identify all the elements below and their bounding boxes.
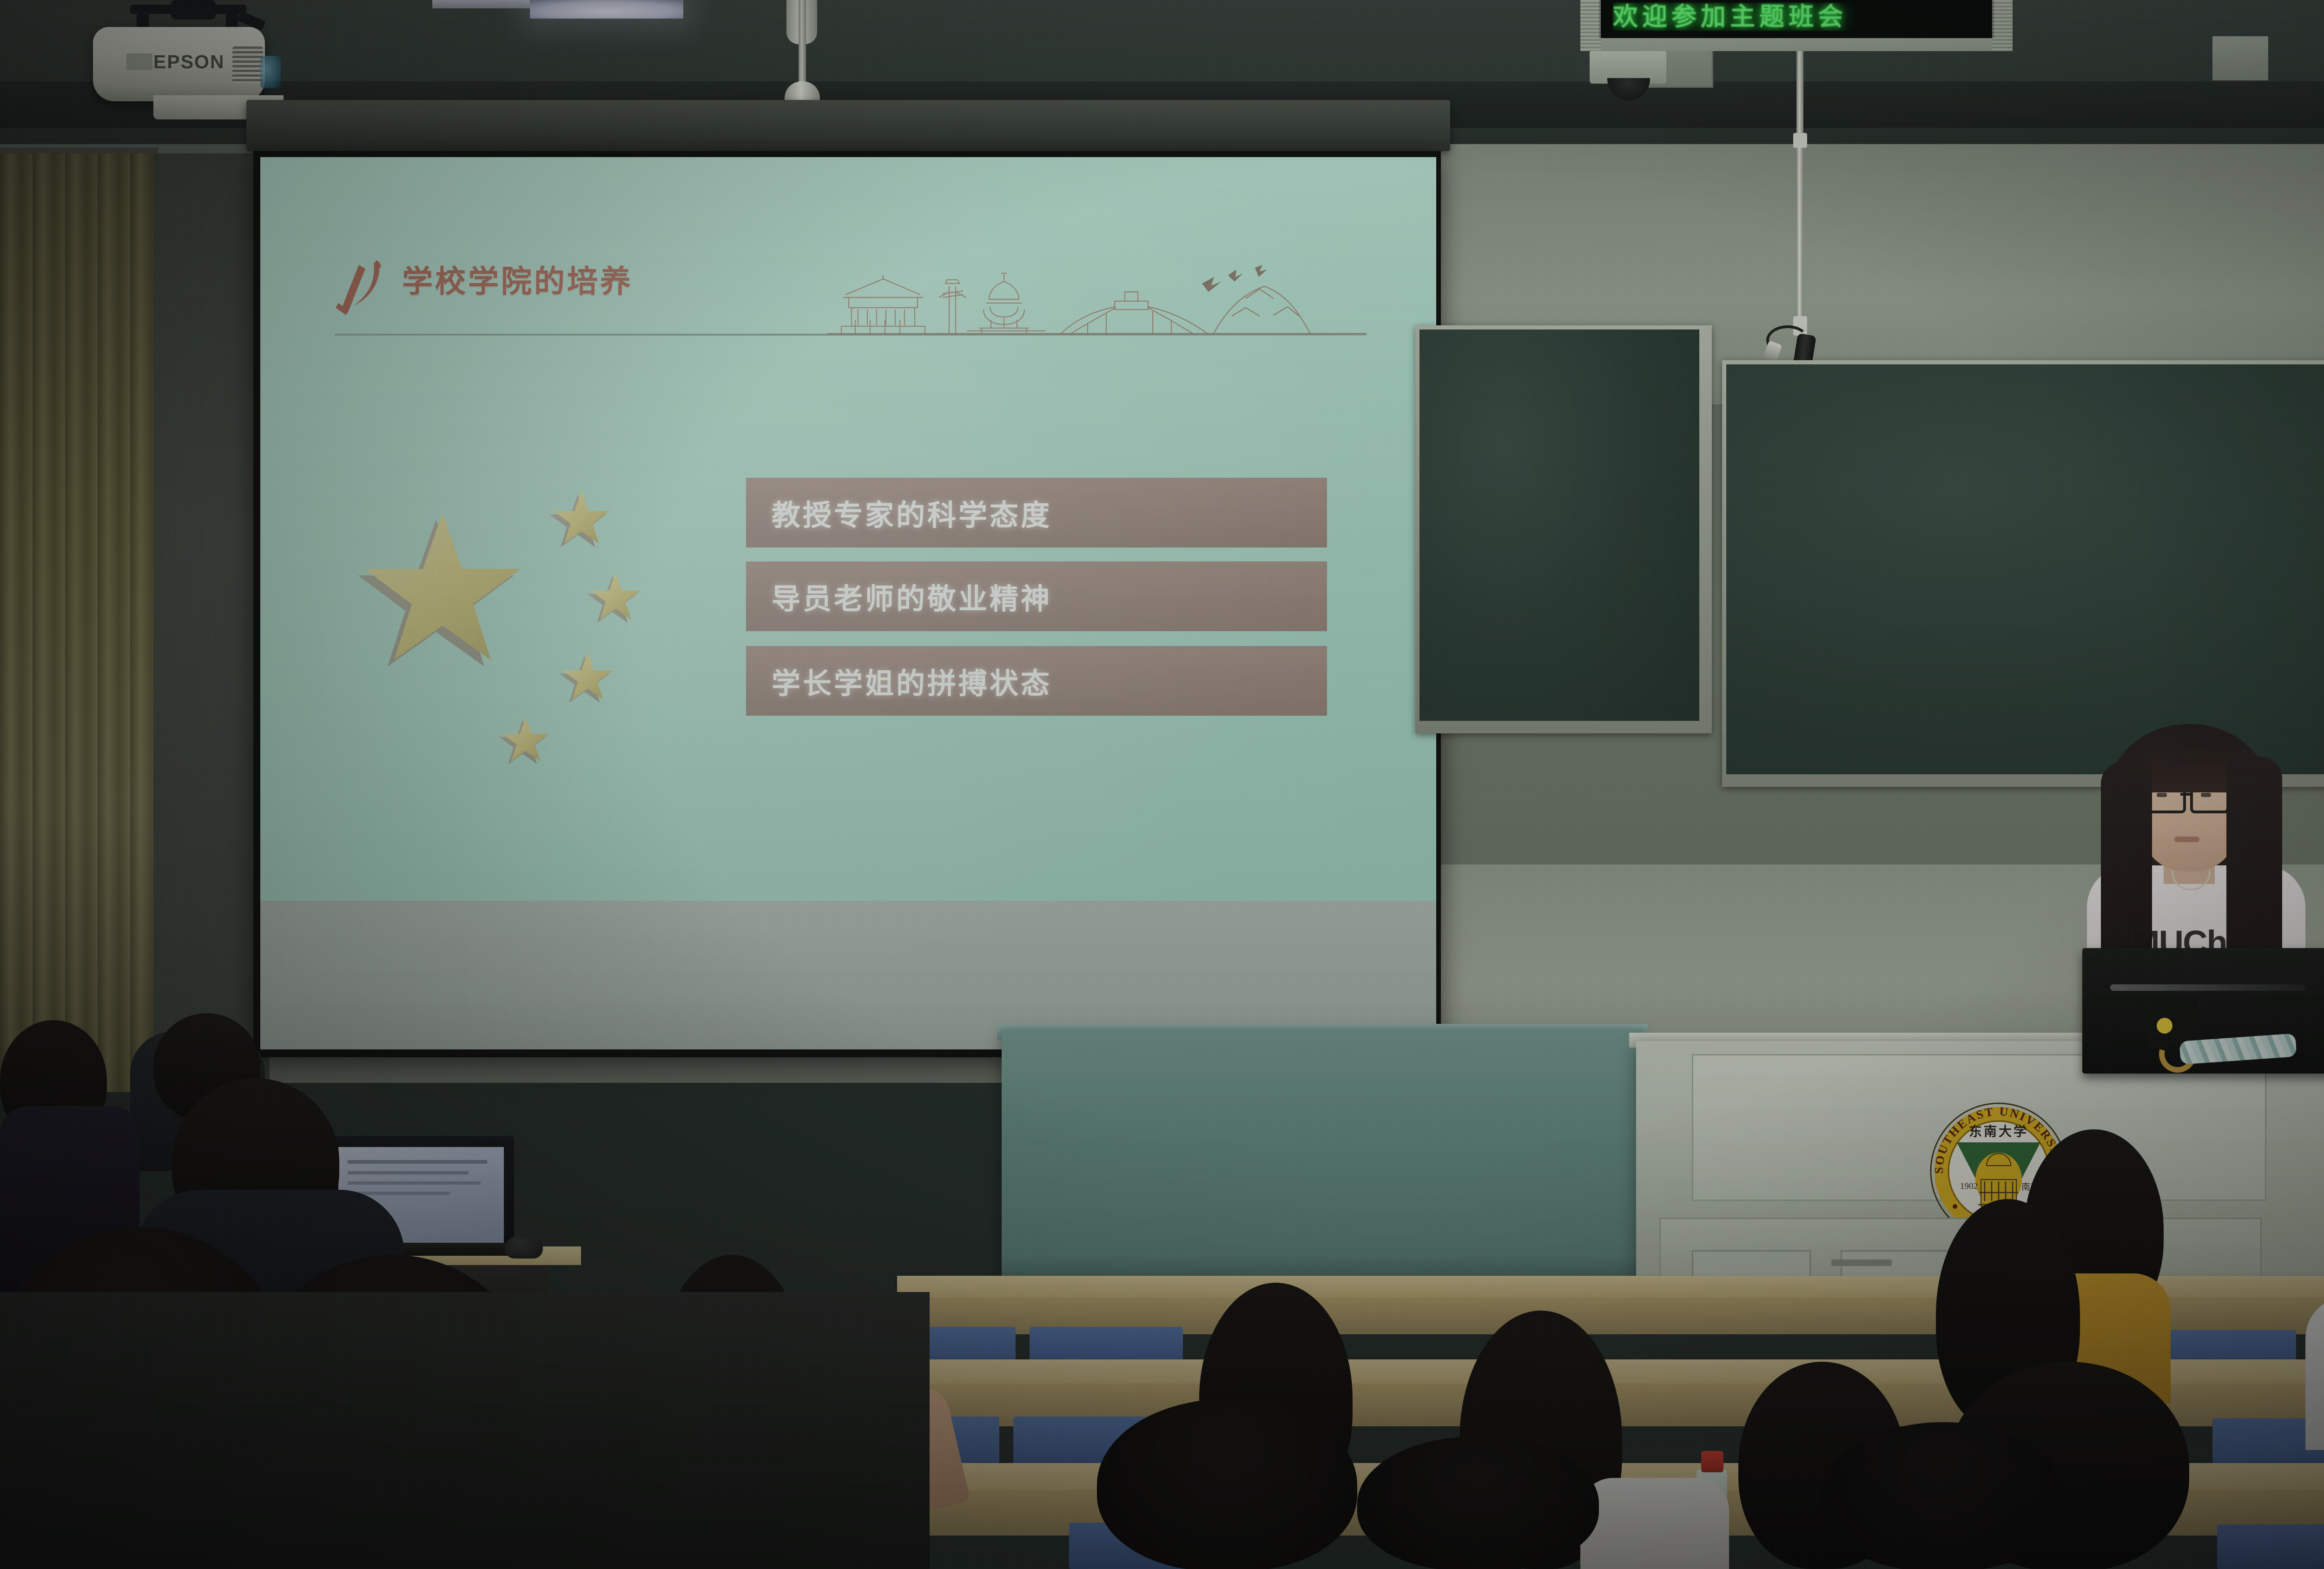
remote-button[interactable] [2157,1018,2172,1034]
laptop-screen-textline [348,1160,487,1164]
laptop-screen-textline [348,1171,469,1174]
monitor-highlight [2110,984,2305,991]
five-gold-stars-icon [353,482,660,780]
slide-bullet-text: 学长学姐的拼搏状态 [772,660,1052,702]
hammer-and-sickle-icon [335,255,386,315]
beijing-landmarks-illustration [827,265,1367,335]
floor [0,1292,930,1569]
bench-seat [2217,1524,2324,1569]
audience-body-white [1580,1478,1729,1569]
chalkboard-left [1419,330,1699,721]
laptop-screen-textline [348,1181,481,1185]
slide-canvas: 学校学院的培养 [260,157,1436,901]
led-sign-edge-right [1992,0,2013,50]
classroom-photo-scene: EPSON 欢迎参加主题班会 [0,0,2324,1569]
slide-bullet-box: 学长学姐的拼搏状态 [746,646,1327,716]
led-sign-edge-left [1580,0,1601,50]
projector-vent [232,46,263,83]
slide-bullet-text: 教授专家的科学态度 [772,492,1052,534]
audience-head-foreground [1822,1422,2064,1569]
slide-title: 学校学院的培养 [402,260,755,303]
svg-text:东南大学: 东南大学 [1969,1124,2028,1139]
slide-bullet-box: 导员老师的敬业精神 [746,561,1327,631]
audience-head-foreground [1097,1399,1357,1569]
window-curtain [0,153,153,1092]
pole-collar [1793,133,1807,148]
left-wall-panel [153,153,270,1106]
eyeglasses-bridge [2180,793,2190,796]
chalkboard-center [1726,364,2324,774]
presenter-mouth [2174,837,2199,842]
led-sign-text: 欢迎参加主题班会 [1613,3,1985,31]
audience-head-foreground [1357,1436,1599,1569]
projector-brand-label: EPSON [153,51,237,73]
projector-badge [126,53,152,70]
bottle-cap[interactable] [1701,1451,1723,1472]
ceiling-light [530,0,683,19]
projector-lens [260,56,281,88]
svg-text:1902: 1902 [1960,1181,1978,1191]
drawer-handle[interactable] [1831,1259,1892,1266]
slide-bullet-text: 导员老师的敬业精神 [772,575,1052,617]
fan-downrod [799,0,806,88]
projection-screen-housing [246,100,1450,151]
wall-speaker [2212,36,2268,80]
slide-bullet-box: 教授专家的科学态度 [746,478,1327,547]
computer-mouse[interactable] [505,1236,543,1259]
projection-screen: 学校学院的培养 [260,157,1436,1049]
